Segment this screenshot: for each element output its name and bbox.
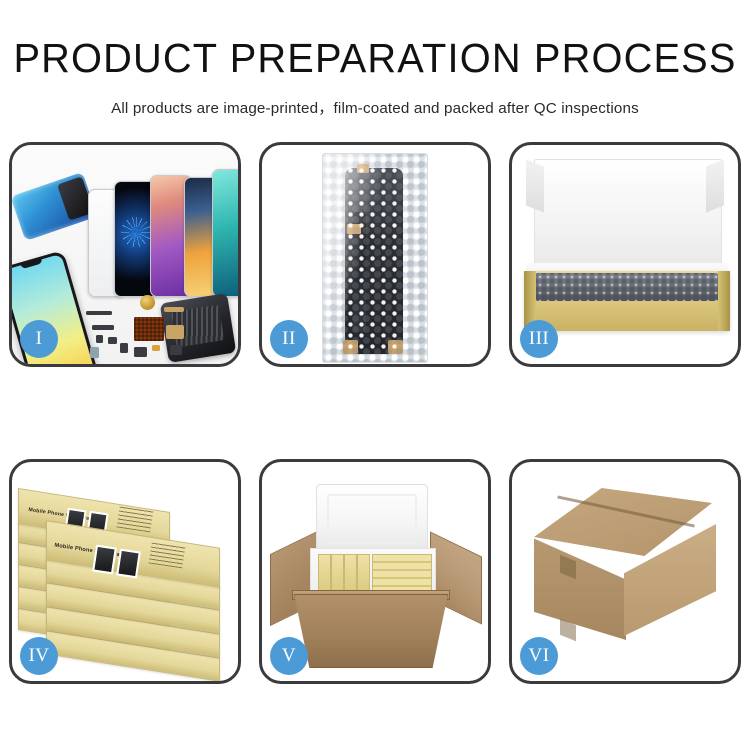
speaker-component — [140, 295, 155, 310]
vibrator-component — [134, 347, 147, 357]
step-badge-2: II — [270, 320, 308, 358]
front-box-screen-image-1 — [92, 545, 117, 575]
step-badge-5: V — [270, 637, 308, 675]
process-step-panel-4[interactable]: Mobile Phone Spare Parts Mobile Phone Sp… — [9, 459, 241, 684]
page-header: PRODUCT PREPARATION PROCESS All products… — [0, 0, 750, 118]
step-badge-4: IV — [20, 637, 58, 675]
button-component — [120, 343, 128, 353]
antenna-strip-component — [92, 325, 114, 330]
camera-flex-component — [166, 325, 184, 339]
product-preparation-process-page: PRODUCT PREPARATION PROCESS All products… — [0, 0, 750, 750]
flex-cable-component — [164, 307, 184, 312]
step-badge-6: VI — [520, 637, 558, 675]
small-components-scatter — [86, 295, 204, 364]
phone-screen-teal — [212, 169, 238, 297]
process-step-panel-6[interactable]: VI — [509, 459, 741, 684]
carton-body — [294, 594, 448, 668]
connector-component — [170, 345, 182, 355]
gold-contact-component — [152, 345, 160, 351]
step-badge-1: I — [20, 320, 58, 358]
white-box-lid — [534, 159, 722, 279]
process-step-panel-2[interactable]: II — [259, 142, 491, 367]
page-subtitle: All products are image-printed，film-coat… — [0, 96, 750, 118]
bracket-component — [108, 337, 117, 344]
sim-tray-component — [90, 347, 99, 358]
logic-board-component — [134, 317, 164, 341]
bubble-wrap-bag — [322, 153, 428, 363]
plastic-gloss-highlight — [323, 154, 427, 362]
process-step-panel-1[interactable]: I — [9, 142, 241, 367]
lid-flap-right — [706, 159, 724, 212]
bubble-wrapped-bundle — [536, 273, 718, 301]
process-step-panel-5[interactable]: V — [259, 459, 491, 684]
front-box-screen-image-2 — [116, 549, 141, 579]
phone-screen-fan — [88, 167, 238, 297]
foam-lid — [316, 484, 428, 554]
step-badge-3: III — [520, 320, 558, 358]
process-steps-grid: I II — [0, 118, 750, 750]
lid-flap-left — [526, 159, 544, 212]
screw-component — [96, 335, 103, 343]
earpiece-mesh-component — [86, 311, 112, 315]
page-title: PRODUCT PREPARATION PROCESS — [11, 38, 739, 79]
process-step-panel-3[interactable]: III — [509, 142, 741, 367]
